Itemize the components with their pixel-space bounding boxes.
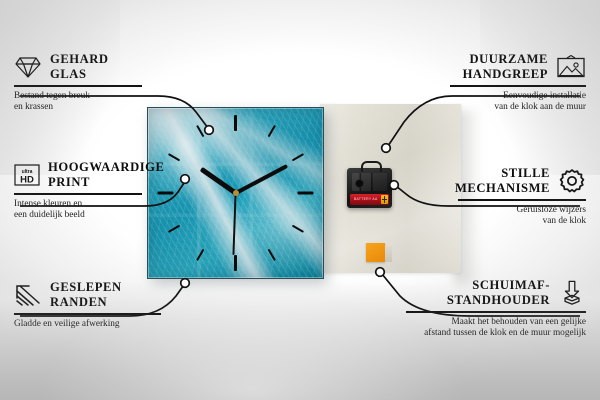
- vignette-overlay: [0, 0, 600, 400]
- product-infographic: BATTERY AA: [0, 0, 600, 400]
